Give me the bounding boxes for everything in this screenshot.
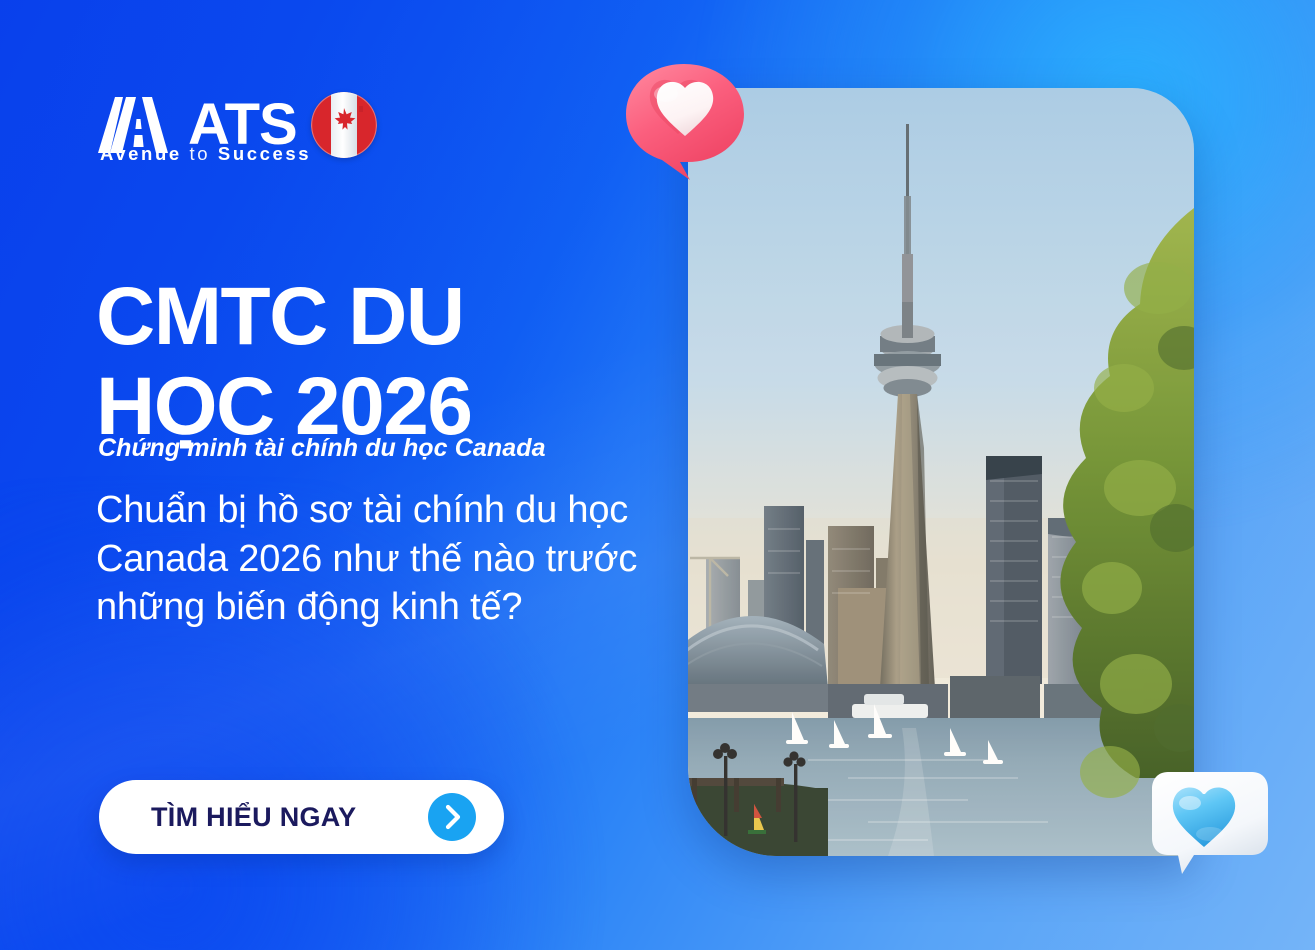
description-paragraph: Chuẩn bị hồ sơ tài chính du học Canada 2… [96,486,696,632]
tagline-word-to: to [190,143,211,164]
left-content-column: ATS [96,0,696,950]
speech-bubble-heart-blue-icon [1148,768,1272,880]
hero-photo-card [688,88,1194,856]
canada-flag-icon [311,92,377,158]
tagline-word-success: Success [218,143,311,164]
tagline-word-avenue: Avenue [100,143,182,164]
chevron-right-icon [428,793,476,841]
subtitle: Chứng minh tài chính du học Canada [98,434,546,463]
promo-banner: ATS [0,0,1315,950]
cta-button-label: TÌM HIỂU NGAY [151,802,356,833]
cta-button[interactable]: TÌM HIỂU NGAY [99,780,504,854]
page-title: CMTC DU HỌC 2026 [96,277,716,448]
headline-line-1: CMTC DU [96,271,464,362]
speech-bubble-heart-pink-icon [618,58,768,184]
brand-tagline: Avenue to Success [100,145,311,164]
